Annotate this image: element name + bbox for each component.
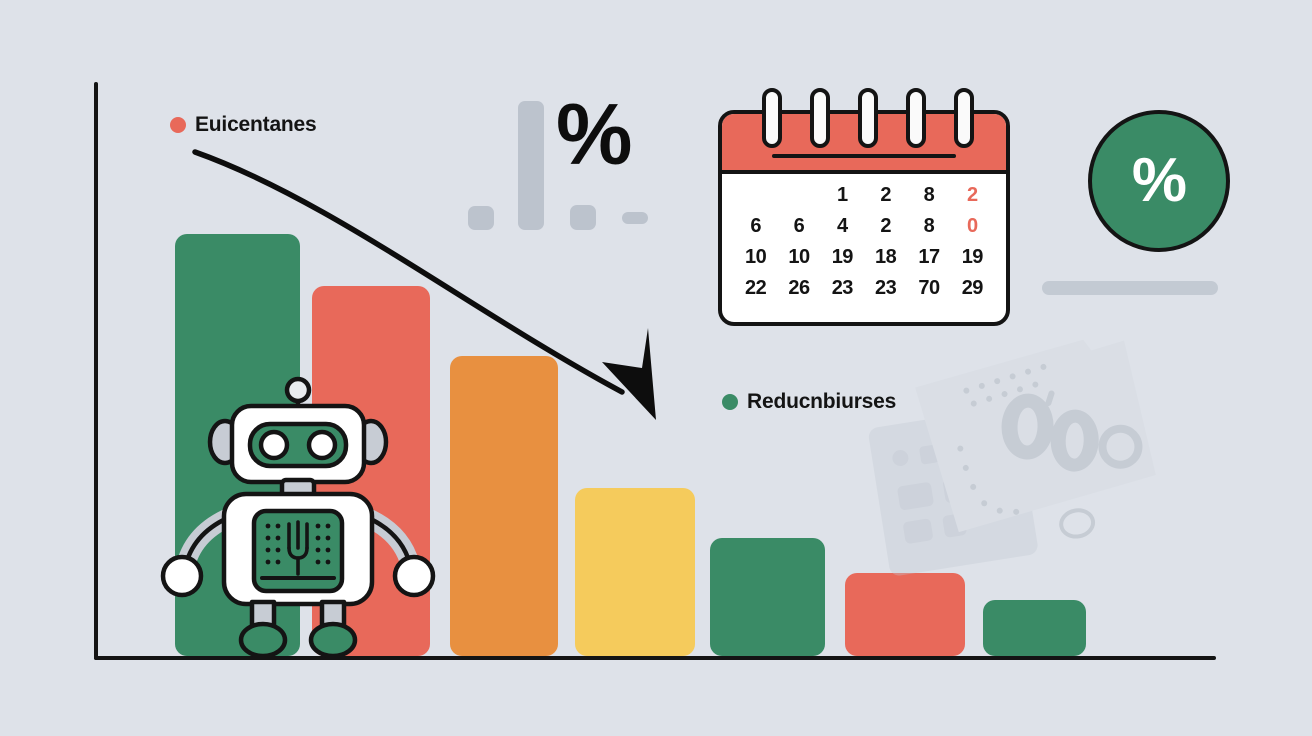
percent-badge-label: %	[1132, 150, 1186, 212]
illustration-canvas: % Euicentanes Reducnbiurses	[0, 0, 1312, 736]
calendar-day-cell[interactable]: 19	[832, 246, 853, 269]
calendar-title-line	[772, 154, 956, 158]
calendar-day-cell[interactable]: 70	[918, 277, 939, 300]
bar-4	[575, 488, 695, 656]
calendar-day-cell[interactable]: 2	[880, 184, 891, 207]
calendar-day-cell[interactable]: 19	[962, 246, 983, 269]
calendar-day-cell[interactable]: 1	[837, 184, 848, 207]
calendar-day-cell[interactable]: 29	[962, 277, 983, 300]
calendar-date-grid: 1282664280101019181719222623237029	[722, 180, 1006, 304]
calendar-day-cell[interactable]: 23	[875, 277, 896, 300]
robot-mascot-icon	[158, 376, 438, 658]
calendar-day-cell[interactable]: 26	[788, 277, 809, 300]
calendar-ring-3	[858, 88, 878, 148]
bar-7	[983, 600, 1086, 656]
pill-divider	[1042, 281, 1218, 295]
calendar-ring-1	[762, 88, 782, 148]
calendar-header-band	[722, 114, 1006, 174]
calendar-ring-5	[954, 88, 974, 148]
legend-dot-icon	[722, 394, 738, 410]
calendar-day-cell[interactable]: 6	[794, 215, 805, 238]
calendar-day-cell[interactable]: 2	[967, 184, 978, 207]
calendar-day-cell[interactable]: 10	[788, 246, 809, 269]
calendar-day-cell[interactable]: 22	[745, 277, 766, 300]
ghost-document-cards	[856, 336, 1196, 586]
calendar-ring-4	[906, 88, 926, 148]
chart-y-axis	[94, 82, 98, 660]
bar-5	[710, 538, 825, 656]
calendar-ring-2	[810, 88, 830, 148]
calendar-card: 1282664280101019181719222623237029	[718, 110, 1010, 326]
calendar-day-cell[interactable]: 8	[924, 184, 935, 207]
calendar-day-cell[interactable]: 6	[750, 215, 761, 238]
calendar-day-cell[interactable]: 10	[745, 246, 766, 269]
calendar-day-cell[interactable]: 8	[924, 215, 935, 238]
percent-badge: %	[1088, 110, 1230, 252]
calendar-day-cell[interactable]: 4	[837, 215, 848, 238]
calendar-day-cell[interactable]: 0	[967, 215, 978, 238]
calendar-day-cell[interactable]: 2	[880, 215, 891, 238]
calendar-day-cell[interactable]: 17	[918, 246, 939, 269]
calendar-day-cell[interactable]: 23	[832, 277, 853, 300]
calendar-day-cell[interactable]: 18	[875, 246, 896, 269]
